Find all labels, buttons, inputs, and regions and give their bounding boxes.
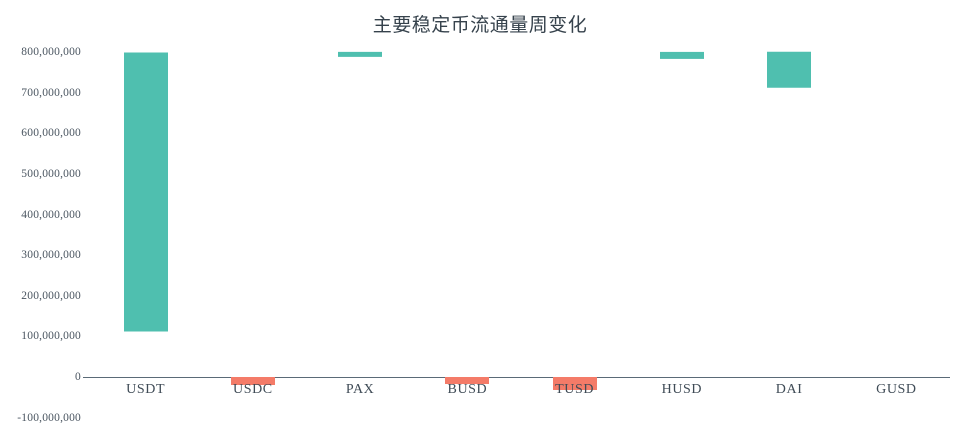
x-tick-label-tusd: TUSD — [555, 382, 594, 398]
bar-dai[interactable] — [767, 52, 811, 88]
y-tick-label: 400,000,000 — [21, 209, 81, 221]
y-axis: 800,000,000700,000,000600,000,000500,000… — [0, 0, 92, 430]
zero-baseline — [92, 377, 950, 378]
bar-slot — [628, 52, 735, 377]
x-tick-label-busd: BUSD — [448, 382, 488, 398]
bar-husd[interactable] — [660, 52, 704, 59]
bar-pax[interactable] — [338, 52, 382, 57]
x-axis: USDTUSDCPAXBUSDTUSDHUSDDAIGUSD — [92, 382, 950, 408]
zero-axis-tick — [83, 377, 92, 378]
bar-slot — [521, 52, 628, 377]
bar-slot — [199, 52, 306, 377]
x-tick-label-husd: HUSD — [662, 382, 703, 398]
y-tick-label: 500,000,000 — [21, 168, 81, 180]
y-tick-label: -100,000,000 — [17, 412, 81, 424]
x-tick-label-pax: PAX — [346, 382, 375, 398]
y-tick-label: 800,000,000 — [21, 46, 81, 58]
bar-slot — [736, 52, 843, 377]
bar-series — [92, 52, 950, 377]
bar-usdt[interactable] — [124, 52, 168, 332]
plot-area — [92, 52, 950, 377]
x-tick-label-usdc: USDC — [233, 382, 273, 398]
y-tick-label: 700,000,000 — [21, 87, 81, 99]
bar-slot — [92, 52, 199, 377]
x-tick-label-usdt: USDT — [126, 382, 165, 398]
chart-title: 主要稳定币流通量周变化 — [0, 10, 960, 37]
y-tick-label: 200,000,000 — [21, 290, 81, 302]
x-tick-label-gusd: GUSD — [876, 382, 917, 398]
y-tick-label: 600,000,000 — [21, 127, 81, 139]
y-tick-label: 300,000,000 — [21, 249, 81, 261]
bar-slot — [843, 52, 950, 377]
y-tick-label: 100,000,000 — [21, 330, 81, 342]
y-tick-label: 0 — [75, 371, 81, 383]
bar-slot — [307, 52, 414, 377]
bar-slot — [414, 52, 521, 377]
chart-container: 主要稳定币流通量周变化 800,000,000700,000,000600,00… — [0, 0, 960, 430]
x-tick-label-dai: DAI — [776, 382, 803, 398]
